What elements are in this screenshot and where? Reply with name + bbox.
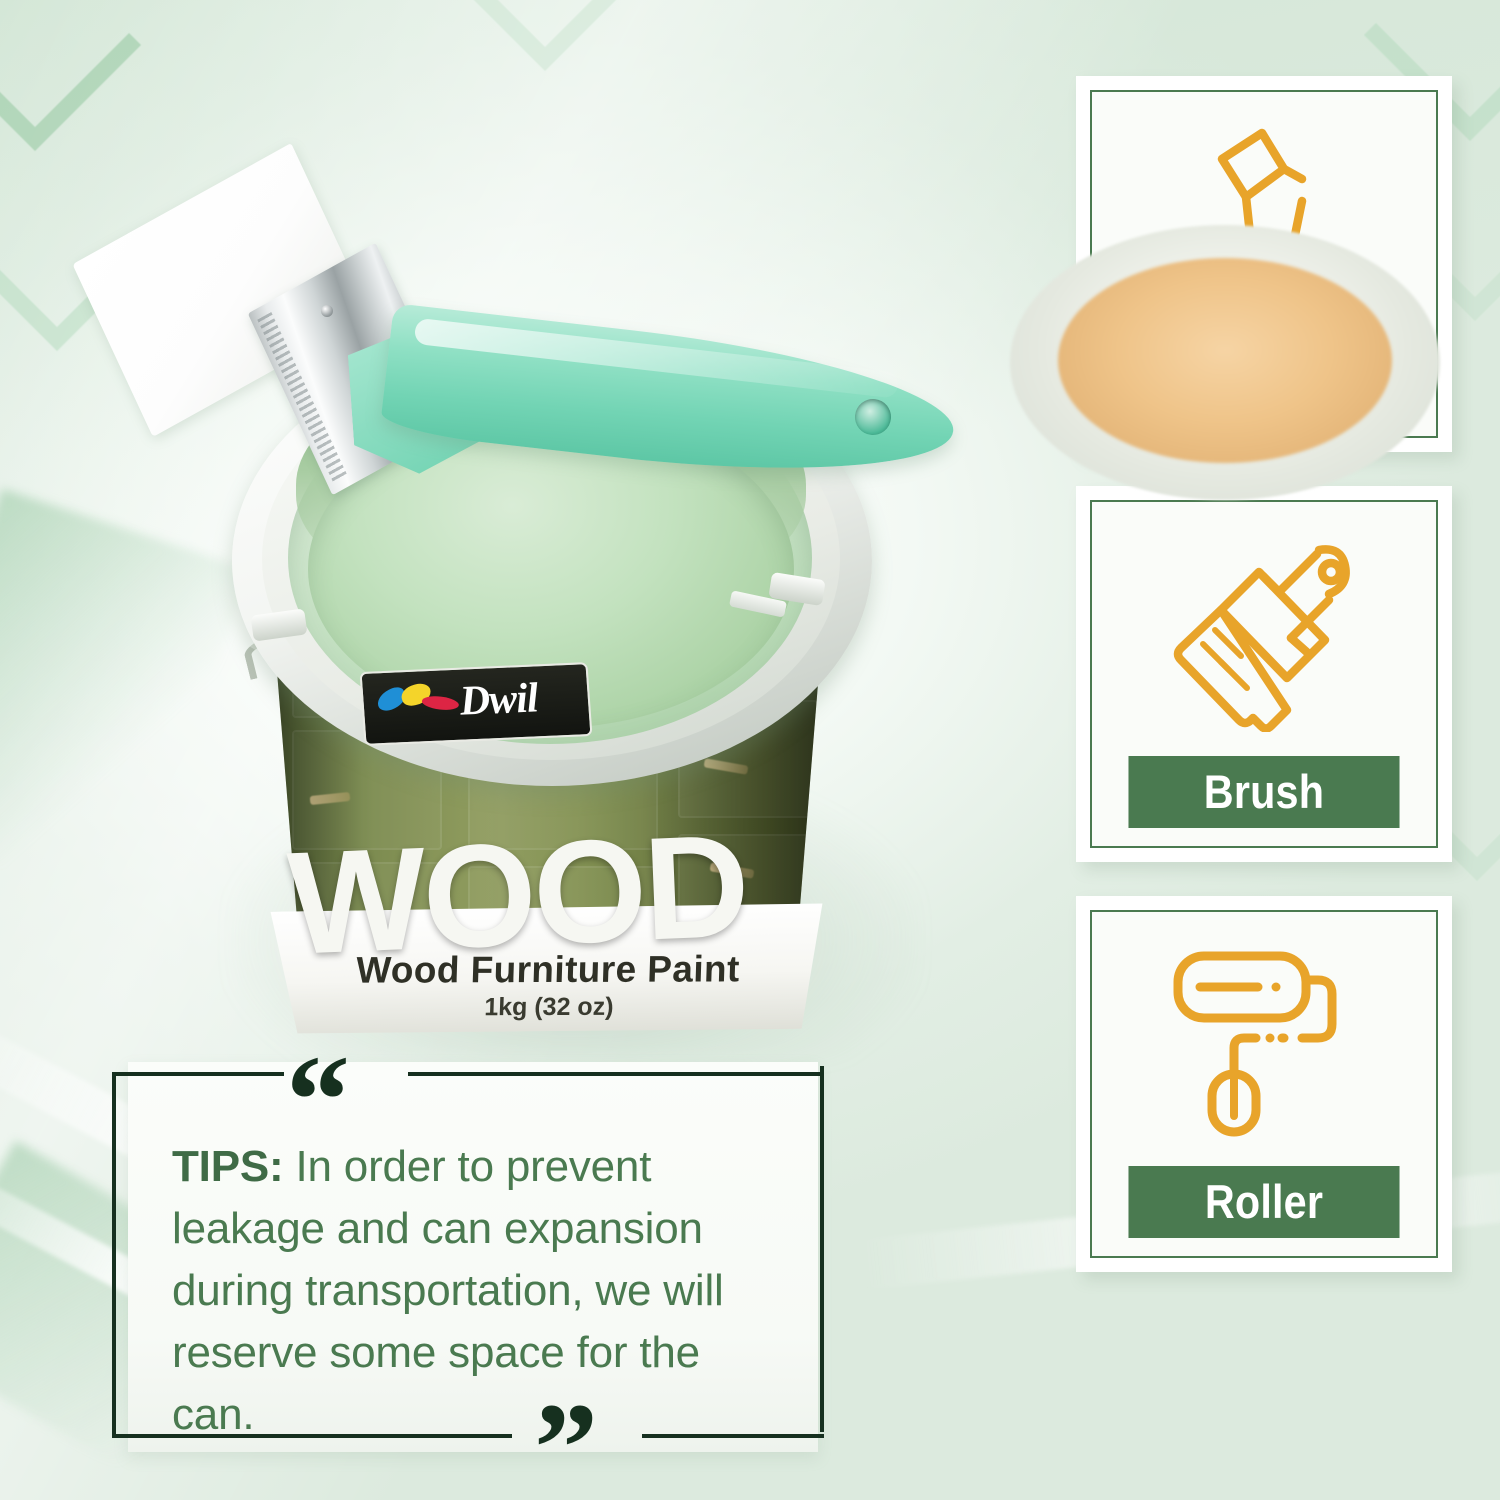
card-inner-frame: Roller xyxy=(1090,910,1438,1258)
product-headline: WOOD xyxy=(285,809,830,977)
tips-frame-top-left xyxy=(112,1072,284,1076)
paint-brush-icon xyxy=(1159,532,1369,732)
card-icon-area xyxy=(1092,912,1436,1166)
tips-frame-left xyxy=(112,1072,116,1438)
card-icon-area xyxy=(1092,502,1436,756)
tips-frame-top-right xyxy=(408,1072,824,1076)
product-net-weight: 1kg (32 oz) xyxy=(248,992,849,1023)
card-inner-frame: Brush xyxy=(1090,500,1438,848)
logo-swoosh-red-icon xyxy=(421,695,459,712)
card-label-roller: Roller xyxy=(1128,1166,1399,1238)
cup-contents xyxy=(1058,258,1392,463)
tips-quote-box: “ ” TIPS: In order to prevent leakage an… xyxy=(112,1044,824,1460)
paint-brush-photo xyxy=(85,185,985,505)
paint-roller-icon xyxy=(1164,942,1364,1142)
tips-frame-right xyxy=(820,1066,824,1432)
card-label-brush: Brush xyxy=(1128,756,1399,828)
method-card-roller[interactable]: Roller xyxy=(1076,896,1452,1272)
brand-name: Dwil xyxy=(458,674,539,725)
tips-text: TIPS: In order to prevent leakage and ca… xyxy=(172,1136,782,1446)
tips-prefix: TIPS: xyxy=(172,1142,283,1191)
product-infographic: Wood Furniture Paint 1kg (32 oz) WOOD Dw… xyxy=(0,0,1500,1500)
method-card-brush[interactable]: Brush xyxy=(1076,486,1452,862)
brush-rivet xyxy=(321,305,333,317)
brand-badge: Dwil xyxy=(359,662,592,746)
